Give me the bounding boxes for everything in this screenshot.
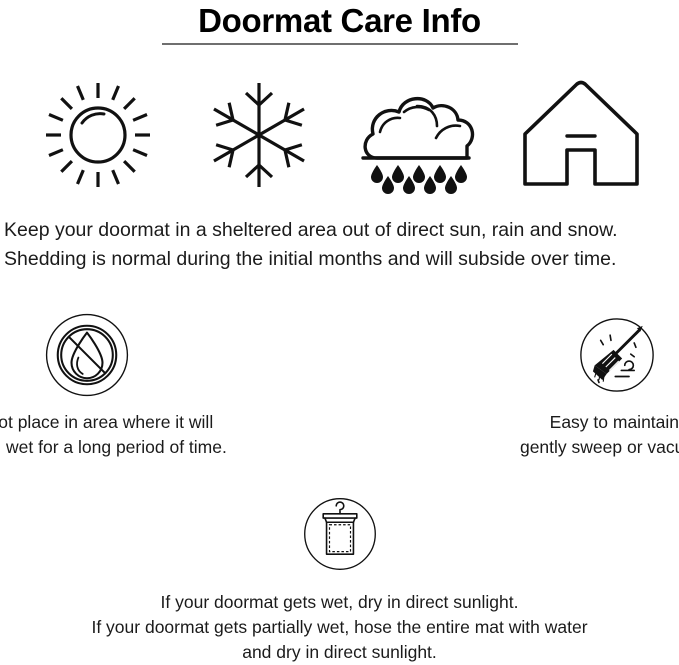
care-row: Do not place in area where it will remai…	[0, 312, 679, 462]
no-water-icon	[44, 312, 130, 398]
care-caption-no-water: Do not place in area where it will remai…	[0, 410, 227, 460]
page-title: Doormat Care Info	[0, 0, 679, 40]
dry-caption-line-2: If your doormat gets partially wet, hose…	[91, 615, 587, 640]
dry-block: If your doormat gets wet, dry in direct …	[0, 492, 679, 665]
header: Doormat Care Info	[0, 0, 679, 45]
sun-icon	[41, 78, 155, 192]
broom-sweep-icon	[574, 312, 660, 398]
care-caption-sweep: Easy to maintain; gently sweep or vacuum…	[520, 410, 679, 460]
intro-line-2: Shedding is normal during the initial mo…	[4, 245, 679, 274]
rain-cloud-icon-wrap	[350, 76, 490, 194]
care-caption-sweep-line-1: Easy to maintain;	[520, 410, 679, 435]
sun-icon-wrap	[28, 76, 168, 194]
house-icon	[521, 80, 641, 190]
care-caption-no-water-line-1: Do not place in area where it will	[0, 410, 227, 435]
care-caption-sweep-line-2: gently sweep or vacuum.	[520, 435, 679, 460]
snowflake-icon	[203, 79, 315, 191]
care-item-sweep: Easy to maintain; gently sweep or vacuum…	[340, 312, 679, 462]
intro-paragraph: Keep your doormat in a sheltered area ou…	[0, 216, 679, 274]
title-underline	[162, 43, 518, 45]
intro-line-1: Keep your doormat in a sheltered area ou…	[4, 216, 679, 245]
house-icon-wrap	[511, 76, 651, 194]
dry-caption: If your doormat gets wet, dry in direct …	[91, 590, 587, 665]
rain-cloud-icon	[357, 76, 483, 194]
care-caption-no-water-line-2: remain wet for a long period of time.	[0, 435, 227, 460]
weather-icon-row	[0, 74, 679, 196]
dry-caption-line-1: If your doormat gets wet, dry in direct …	[91, 590, 587, 615]
dry-caption-line-3: and dry in direct sunlight.	[91, 640, 587, 665]
care-item-no-water: Do not place in area where it will remai…	[0, 312, 340, 462]
snowflake-icon-wrap	[189, 76, 329, 194]
hang-to-dry-icon	[298, 492, 382, 576]
